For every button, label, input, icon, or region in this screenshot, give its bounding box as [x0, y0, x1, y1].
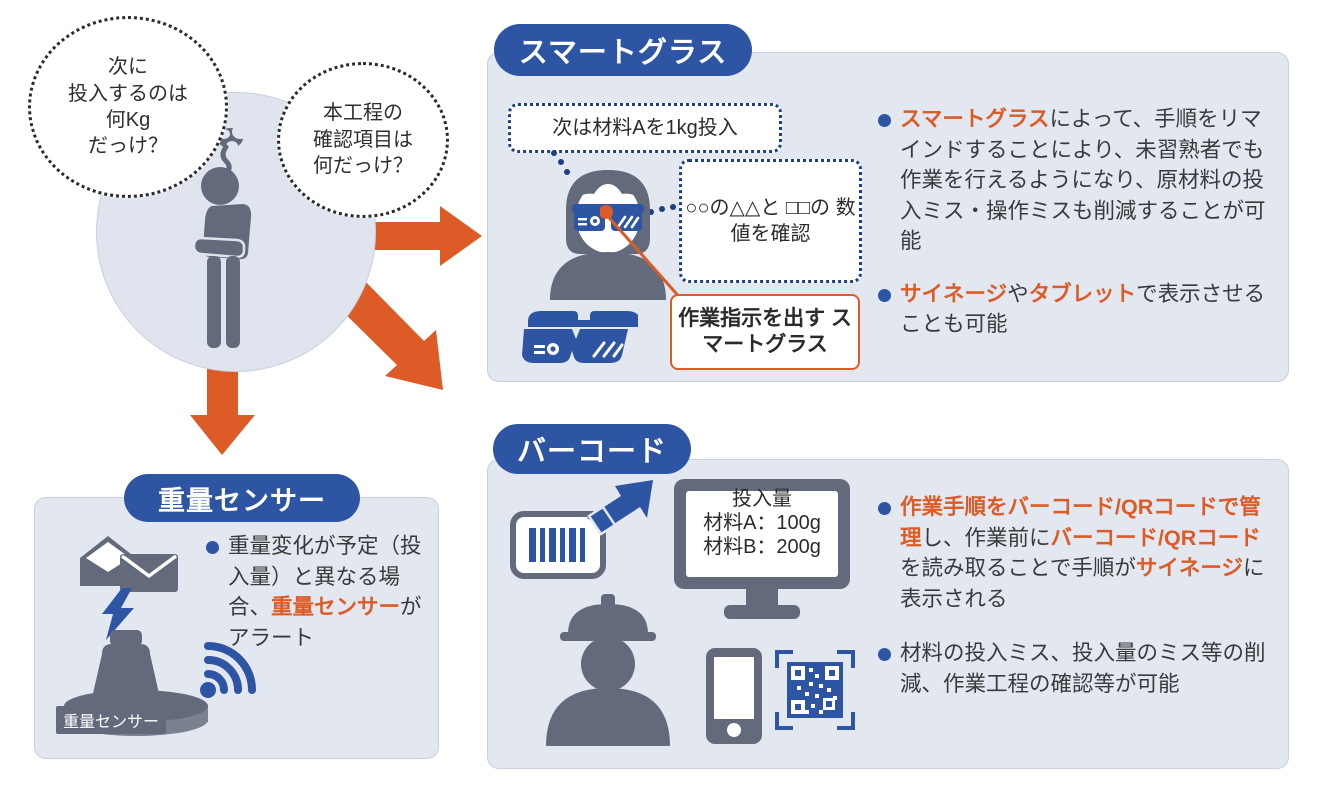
bullet-text: を読み取ることで手順が: [900, 556, 1136, 580]
smartphone-icon: [706, 648, 762, 744]
barcode-title: バーコード: [517, 428, 667, 470]
bullet-item: スマートグラスによって、手順をリマインドすることにより、未習熟者でも作業を行える…: [876, 104, 1274, 257]
bullet-item: 材料の投入ミス、投入量のミス等の削減、作業工程の確認等が可能: [876, 638, 1274, 699]
monitor-row: 材料B：200g: [686, 535, 838, 559]
device-label-line: 作業指示を出す: [678, 307, 825, 330]
bullet-item: 重量変化が予定（投入量）と異なる場合、重量センサーがアラート: [204, 531, 430, 653]
bullet-highlight: バーコード/QRコード: [1051, 526, 1261, 550]
bullet-highlight: サイネージ: [900, 282, 1007, 306]
qr-code-icon: [775, 650, 855, 730]
barcode-title-pill: バーコード: [493, 424, 691, 474]
bullet-highlight: サイネージ: [1136, 556, 1243, 580]
bubble-line: 本工程の: [313, 100, 413, 126]
smartglass-bullets: スマートグラスによって、手順をリマインドすることにより、未習熟者でも作業を行える…: [876, 104, 1274, 340]
monitor-row: 材料A：100g: [686, 511, 838, 535]
monitor-screen-text: 投入量 材料A：100g 材料B：200g: [686, 487, 838, 559]
bubble-line: 何だっけ？: [313, 153, 413, 179]
smart-glasses-icon: [518, 305, 638, 367]
bullet-item: サイネージやタブレットで表示させることも可能: [876, 279, 1274, 340]
bubble-line: 確認項目は: [313, 127, 413, 153]
smartglass-device-label: 作業指示を出す スマートグラス: [670, 294, 860, 370]
bubble-line: 次に: [68, 54, 188, 80]
smartglass-instruction-callout: 次は材料Aを1kg投入: [508, 103, 782, 153]
infographic-root: 次に 投入するのは 何Kg だっけ？ 本工程の 確認項目は 何だっけ？ スマート…: [0, 0, 1321, 791]
smartglass-title-pill: スマートグラス: [494, 24, 752, 76]
bullet-text: や: [1007, 282, 1029, 306]
barcode-bullets: 作業手順をバーコード/QRコードで管理し、作業前にバーコード/QRコードを読み取…: [876, 492, 1274, 699]
bubble-line: 何Kg: [68, 107, 188, 133]
bullet-highlight: タブレット: [1029, 282, 1137, 306]
monitor-heading: 投入量: [686, 487, 838, 511]
smartglass-title: スマートグラス: [519, 29, 728, 71]
thought-bubble-left: 次に 投入するのは 何Kg だっけ？: [28, 16, 228, 198]
bubble-line: 投入するのは: [68, 81, 188, 107]
callout-text: □□の: [786, 197, 830, 219]
thought-bubble-right: 本工程の 確認項目は 何だっけ？: [277, 62, 449, 218]
bullet-highlight: スマートグラス: [900, 107, 1049, 131]
bullet-highlight: 重量センサー: [271, 595, 400, 619]
bullet-item: 作業手順をバーコード/QRコードで管理し、作業前にバーコード/QRコードを読み取…: [876, 492, 1274, 614]
device-tag-text: 重量センサー: [63, 708, 159, 732]
bullet-text: し、作業前に: [922, 526, 1051, 550]
helmet-worker-icon: [540, 588, 676, 746]
barcode-scanner-icon: [505, 478, 670, 590]
weightsensor-title-pill: 重量センサー: [124, 474, 360, 522]
mail-icon: [78, 528, 188, 592]
bubble-line: だっけ？: [68, 133, 188, 159]
bullet-text: 材料の投入ミス、投入量のミス等の削減、作業工程の確認等が可能: [900, 641, 1266, 696]
weightsensor-bullets: 重量変化が予定（投入量）と異なる場合、重量センサーがアラート: [204, 531, 430, 653]
weightsensor-title: 重量センサー: [158, 479, 326, 518]
callout-text: 次は材料Aを1kg投入: [552, 115, 738, 141]
weightsensor-device-tag: 重量センサー: [56, 706, 166, 734]
